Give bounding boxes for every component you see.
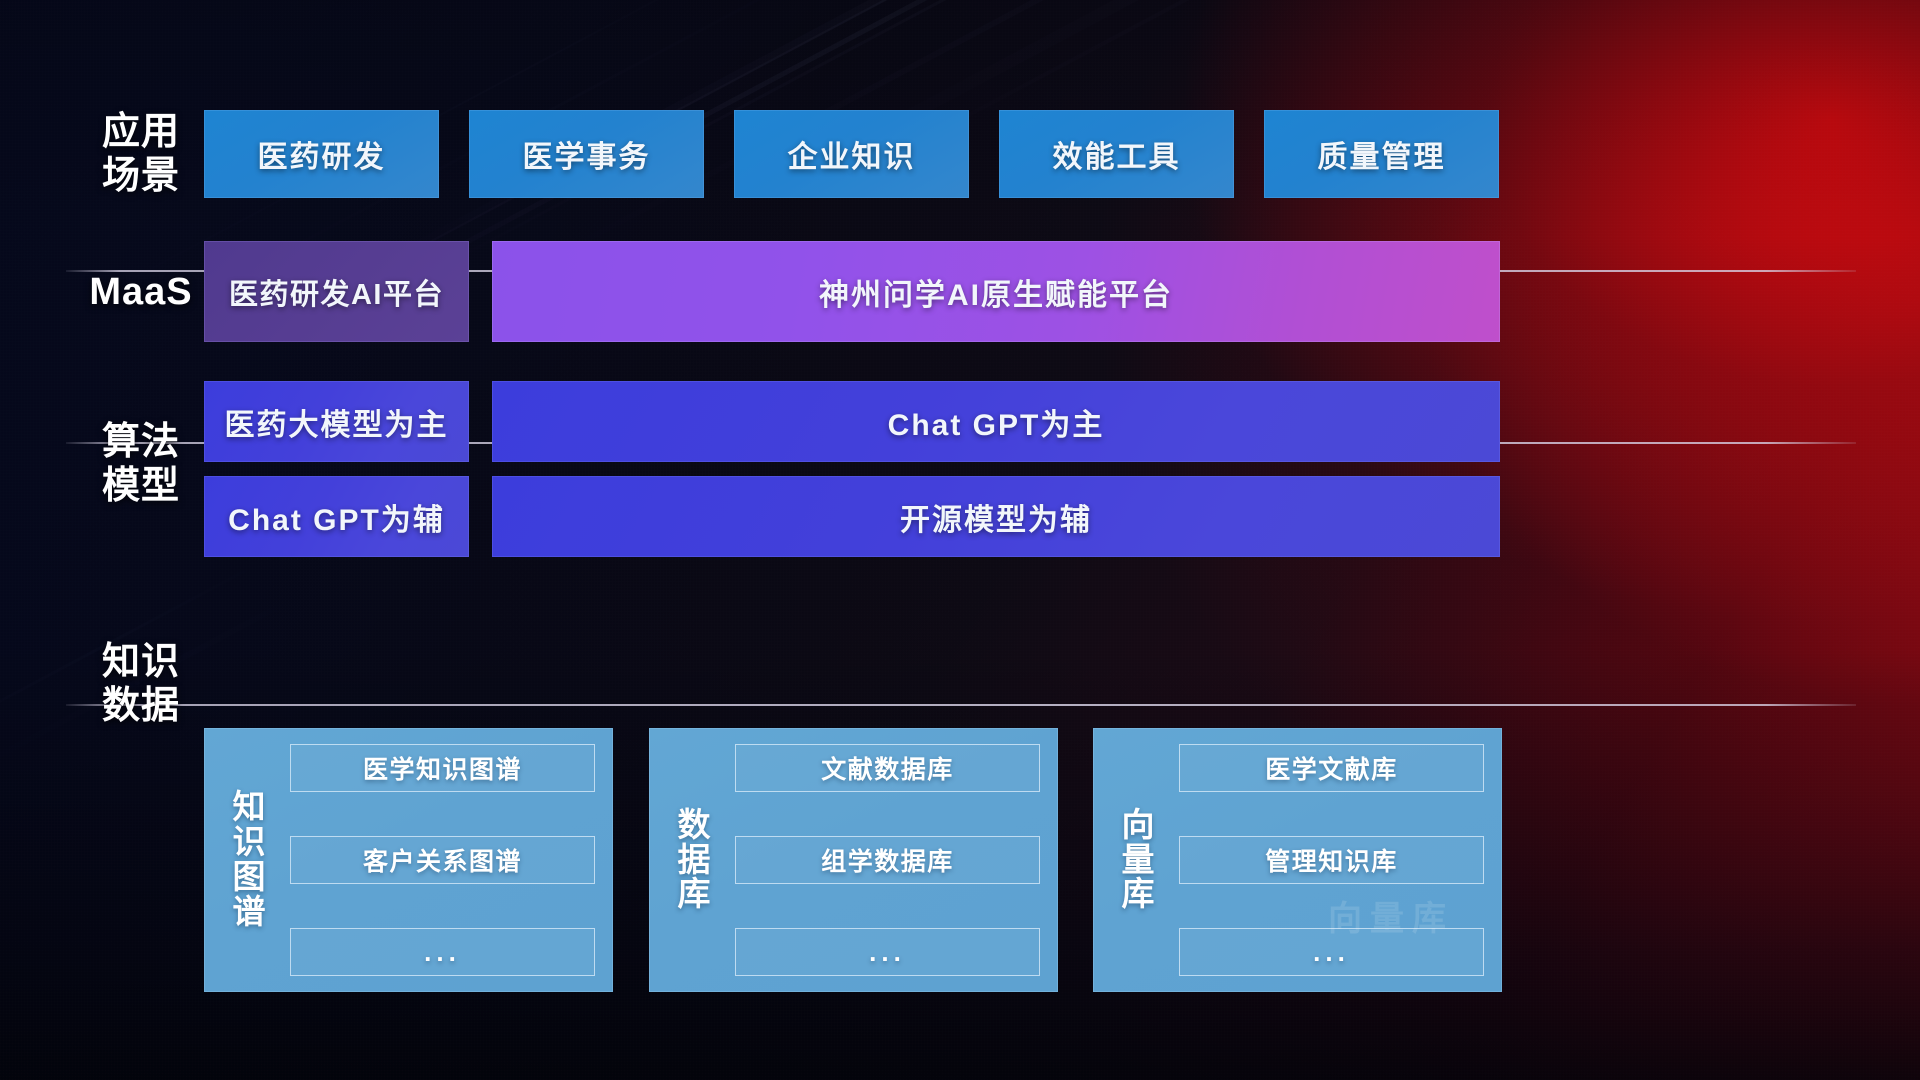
knowledge-item-vector-more[interactable]: ... — [1179, 928, 1484, 976]
maas-box-shenzhou-platform-label: 神州问学AI原生赋能平台 — [819, 270, 1173, 314]
row-label-maas: MaaS — [66, 270, 216, 314]
app-scenario-box-4[interactable]: 效能工具 — [999, 110, 1234, 198]
app-scenario-box-2[interactable]: 医学事务 — [469, 110, 704, 198]
algo-box-drug-llm-primary[interactable]: 医药大模型为主 — [204, 381, 469, 462]
maas-box-drug-rnd-platform[interactable]: 医药研发AI平台 — [204, 241, 469, 342]
knowledge-group-vector[interactable]: 向量库 医学文献库 管理知识库 ... 向量库 — [1093, 728, 1502, 992]
knowledge-group-database-title: 数据库 — [663, 808, 725, 913]
algo-box-drug-llm-primary-label: 医药大模型为主 — [225, 400, 449, 444]
knowledge-item-literature-db[interactable]: 文献数据库 — [735, 744, 1040, 792]
app-scenario-box-2-label: 医学事务 — [523, 132, 651, 176]
knowledge-item-graph-more[interactable]: ... — [290, 928, 595, 976]
knowledge-item-database-more[interactable]: ... — [735, 928, 1040, 976]
slide-canvas: 应用 场景 医药研发 医学事务 企业知识 效能工具 质量管理 MaaS 医药研发… — [0, 0, 1920, 1080]
knowledge-group-database[interactable]: 数据库 文献数据库 组学数据库 ... — [649, 728, 1058, 992]
knowledge-item-customer-graph[interactable]: 客户关系图谱 — [290, 836, 595, 884]
knowledge-item-medical-graph[interactable]: 医学知识图谱 — [290, 744, 595, 792]
divider-3 — [66, 704, 1856, 706]
algo-box-chatgpt-primary[interactable]: Chat GPT为主 — [492, 381, 1500, 462]
row-label-application-scenario: 应用 场景 — [66, 110, 216, 198]
maas-box-shenzhou-platform[interactable]: 神州问学AI原生赋能平台 — [492, 241, 1500, 342]
algo-box-chatgpt-primary-label: Chat GPT为主 — [888, 400, 1105, 444]
app-scenario-box-3-label: 企业知识 — [788, 132, 916, 176]
knowledge-item-omics-db[interactable]: 组学数据库 — [735, 836, 1040, 884]
app-scenario-box-1[interactable]: 医药研发 — [204, 110, 439, 198]
knowledge-group-graph-items: 医学知识图谱 客户关系图谱 ... — [290, 744, 595, 976]
app-scenario-box-5[interactable]: 质量管理 — [1264, 110, 1499, 198]
knowledge-item-management-kb[interactable]: 管理知识库 — [1179, 836, 1484, 884]
knowledge-group-vector-title: 向量库 — [1107, 808, 1169, 913]
app-scenario-box-5-label: 质量管理 — [1318, 132, 1446, 176]
knowledge-group-graph[interactable]: 知识图谱 医学知识图谱 客户关系图谱 ... — [204, 728, 613, 992]
knowledge-item-medical-literature[interactable]: 医学文献库 — [1179, 744, 1484, 792]
algo-box-opensource-secondary[interactable]: 开源模型为辅 — [492, 476, 1500, 557]
algo-box-chatgpt-secondary-label: Chat GPT为辅 — [228, 495, 445, 539]
knowledge-group-graph-title: 知识图谱 — [218, 790, 280, 930]
row-label-knowledge-data: 知识 数据 — [66, 640, 216, 728]
app-scenario-box-1-label: 医药研发 — [258, 132, 386, 176]
row-label-algorithm-model: 算法 模型 — [66, 420, 216, 508]
algo-box-opensource-secondary-label: 开源模型为辅 — [900, 495, 1092, 539]
app-scenario-box-3[interactable]: 企业知识 — [734, 110, 969, 198]
knowledge-group-vector-items: 医学文献库 管理知识库 ... — [1179, 744, 1484, 976]
algo-box-chatgpt-secondary[interactable]: Chat GPT为辅 — [204, 476, 469, 557]
app-scenario-box-4-label: 效能工具 — [1053, 132, 1181, 176]
knowledge-group-database-items: 文献数据库 组学数据库 ... — [735, 744, 1040, 976]
maas-box-drug-rnd-platform-label: 医药研发AI平台 — [229, 271, 444, 313]
